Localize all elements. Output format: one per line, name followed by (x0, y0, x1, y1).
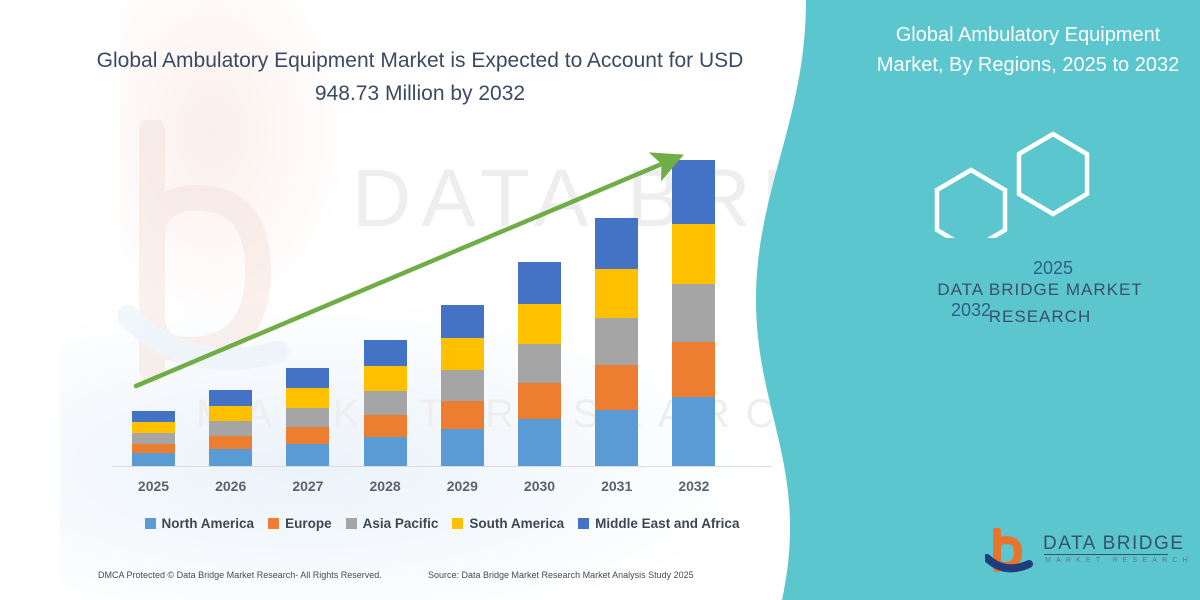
segment-middle-east-and-africa-2028 (364, 340, 407, 366)
segment-middle-east-and-africa-2025 (132, 411, 175, 423)
segment-asia-pacific-2031 (595, 318, 638, 365)
bar-2027 (286, 368, 329, 466)
stacked-bar-chart: 20252026202720282029203020312032 (0, 0, 790, 600)
segment-middle-east-and-africa-2031 (595, 218, 638, 269)
bar-2030 (518, 262, 561, 466)
segment-europe-2028 (364, 415, 407, 437)
segment-south-america-2029 (441, 338, 484, 370)
legend-swatch-icon (268, 518, 279, 529)
logo-tagline: MARKET RESEARCH (1045, 557, 1193, 564)
x-label-2031: 2031 (595, 478, 638, 494)
segment-middle-east-and-africa-2032 (672, 160, 715, 224)
segment-asia-pacific-2028 (364, 391, 407, 415)
segment-south-america-2030 (518, 304, 561, 344)
logo-name: DATA BRIDGE (1043, 533, 1184, 555)
segment-south-america-2026 (209, 406, 252, 421)
segment-europe-2025 (132, 444, 175, 454)
infographic-root: DATA BRIDGE MARKET RESEARCH Global Ambul… (0, 0, 1200, 600)
segment-europe-2032 (672, 342, 715, 397)
legend-label: Middle East and Africa (595, 516, 739, 531)
footer-copyright: DMCA Protected © Data Bridge Market Rese… (98, 570, 382, 580)
legend-item-south-america[interactable]: South America (452, 516, 564, 531)
legend-label: Europe (285, 516, 332, 531)
legend-swatch-icon (452, 518, 463, 529)
bar-2025 (132, 411, 175, 466)
brand-mark-icon (985, 528, 1041, 578)
segment-north-america-2026 (209, 449, 252, 466)
segment-north-america-2030 (518, 419, 561, 466)
segment-middle-east-and-africa-2026 (209, 390, 252, 406)
x-label-2032: 2032 (672, 478, 715, 494)
bar-2031 (595, 218, 638, 466)
x-label-2027: 2027 (286, 478, 329, 494)
legend-swatch-icon (578, 518, 589, 529)
segment-south-america-2028 (364, 366, 407, 391)
segment-middle-east-and-africa-2027 (286, 368, 329, 389)
x-label-2030: 2030 (518, 478, 561, 494)
legend-swatch-icon (145, 518, 156, 529)
segment-asia-pacific-2026 (209, 421, 252, 435)
segment-north-america-2027 (286, 444, 329, 466)
bar-2026 (209, 390, 252, 466)
segment-asia-pacific-2029 (441, 370, 484, 400)
brand-logo: DATA BRIDGE MARKET RESEARCH (985, 528, 1185, 584)
legend-item-europe[interactable]: Europe (268, 516, 332, 531)
segment-europe-2026 (209, 436, 252, 449)
legend-item-middle-east-and-africa[interactable]: Middle East and Africa (578, 516, 739, 531)
x-label-2029: 2029 (441, 478, 484, 494)
segment-south-america-2025 (132, 422, 175, 433)
legend-label: Asia Pacific (363, 516, 439, 531)
segment-middle-east-and-africa-2029 (441, 305, 484, 338)
bar-2032 (672, 160, 715, 466)
segment-north-america-2031 (595, 410, 638, 466)
segment-middle-east-and-africa-2030 (518, 262, 561, 304)
logo-divider (1044, 554, 1168, 555)
bar-2028 (364, 340, 407, 466)
segment-europe-2030 (518, 383, 561, 420)
x-label-2026: 2026 (209, 478, 252, 494)
chart-legend: North AmericaEuropeAsia PacificSouth Ame… (112, 516, 772, 531)
legend-label: North America (162, 516, 255, 531)
chart-baseline (112, 466, 772, 467)
segment-asia-pacific-2032 (672, 284, 715, 341)
bar-2029 (441, 305, 484, 466)
segment-north-america-2025 (132, 453, 175, 466)
segment-europe-2029 (441, 401, 484, 430)
hexagon-2032 (937, 170, 1005, 238)
segment-south-america-2027 (286, 388, 329, 408)
footer-source: Source: Data Bridge Market Research Mark… (428, 570, 694, 580)
hexagon-pair: 2032 2025 (915, 118, 1125, 238)
segment-north-america-2028 (364, 437, 407, 466)
segment-asia-pacific-2027 (286, 408, 329, 427)
hexagon-2025 (1019, 134, 1087, 214)
segment-asia-pacific-2025 (132, 433, 175, 444)
legend-label: South America (469, 516, 564, 531)
x-label-2025: 2025 (132, 478, 175, 494)
right-panel-heading: Global Ambulatory Equipment Market, By R… (868, 20, 1188, 80)
hexagon-outlines (915, 118, 1125, 238)
segment-europe-2031 (595, 365, 638, 410)
segment-north-america-2032 (672, 397, 715, 466)
segment-europe-2027 (286, 427, 329, 444)
legend-item-north-america[interactable]: North America (145, 516, 255, 531)
legend-swatch-icon (346, 518, 357, 529)
x-label-2028: 2028 (364, 478, 407, 494)
segment-north-america-2029 (441, 429, 484, 466)
right-panel-brand: DATA BRIDGE MARKET RESEARCH (900, 276, 1180, 330)
segment-south-america-2032 (672, 224, 715, 285)
segment-south-america-2031 (595, 269, 638, 318)
legend-item-asia-pacific[interactable]: Asia Pacific (346, 516, 439, 531)
segment-asia-pacific-2030 (518, 344, 561, 382)
